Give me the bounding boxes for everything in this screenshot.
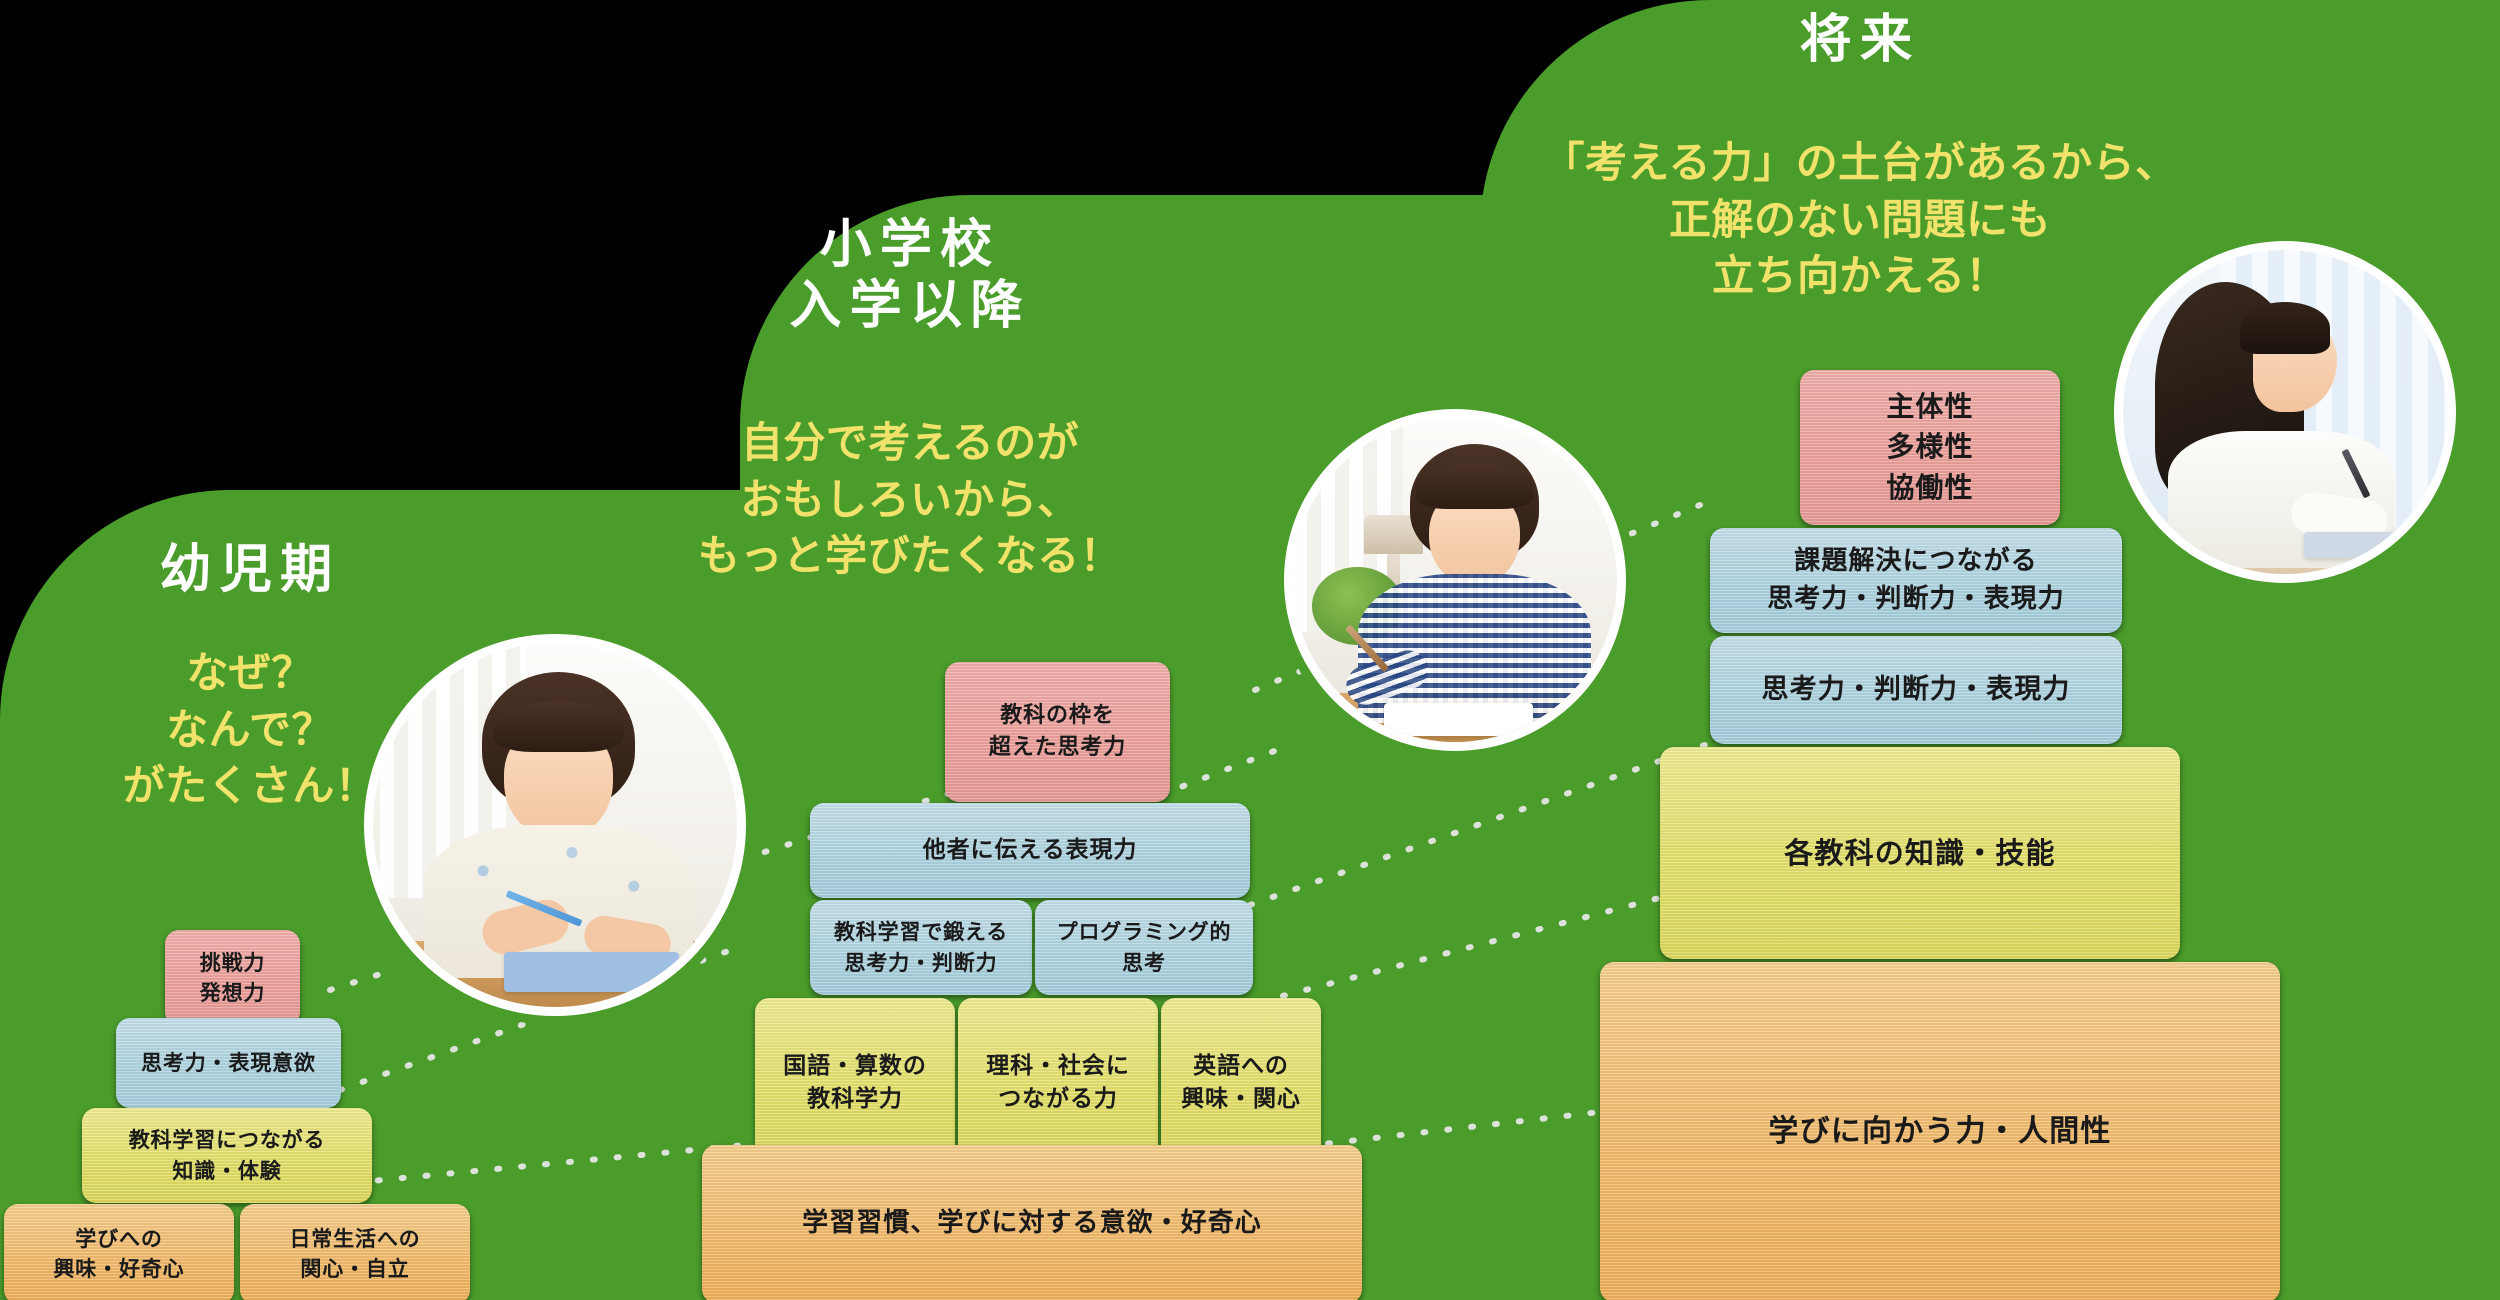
tile-elem-study-habit[interactable]: 学習習慣、学びに対する意欲・好奇心 [702, 1145, 1362, 1300]
stage-subtitle-elementary: 自分で考えるのが おもしろいから、 もっと学びたくなる！ [660, 415, 1160, 585]
bubble-ring [1284, 409, 1626, 751]
photo-bubble-early-childhood [355, 625, 755, 1025]
stage-subtitle-future: 「考える力」の土台があるから、 正解のない問題にも 立ち向かえる！ [1520, 135, 2200, 305]
tile-elem-english[interactable]: 英語への 興味・関心 [1161, 998, 1321, 1168]
tile-future-thinking[interactable]: 思考力・判断力・表現力 [1710, 636, 2122, 744]
photo-bubble-elementary [1275, 400, 1635, 760]
tile-early-thinking[interactable]: 思考力・表現意欲 [116, 1018, 341, 1108]
photo-boy-writing [1293, 418, 1617, 742]
bubble-ring [2114, 241, 2456, 583]
tile-early-knowledge[interactable]: 教科学習につながる 知識・体験 [82, 1108, 372, 1203]
tile-future-autonomy[interactable]: 主体性 多様性 協働性 [1800, 370, 2060, 525]
tile-elem-programming[interactable]: プログラミング的 思考 [1035, 900, 1253, 995]
tile-future-problem-solving[interactable]: 課題解決につながる 思考力・判断力・表現力 [1710, 528, 2122, 633]
tile-early-daily-life[interactable]: 日常生活への 関心・自立 [240, 1204, 470, 1300]
tile-future-human-nature[interactable]: 学びに向かう力・人間性 [1600, 962, 2280, 1300]
tile-elem-japanese-math[interactable]: 国語・算数の 教科学力 [755, 998, 955, 1168]
tile-early-interest[interactable]: 学びへの 興味・好奇心 [4, 1204, 234, 1300]
photo-girl-studying [2123, 250, 2447, 574]
tile-elem-expression[interactable]: 他者に伝える表現力 [810, 803, 1250, 898]
tile-elem-science-social[interactable]: 理科・社会に つながる力 [958, 998, 1158, 1168]
tile-elem-subject-thinking[interactable]: 教科学習で鍛える 思考力・判断力 [810, 900, 1032, 995]
stage-heading-elementary: 小学校 入学以降 [700, 215, 1120, 338]
photo-girl-drawing [373, 643, 737, 1007]
photo-bubble-future [2105, 232, 2465, 592]
tile-early-challenge[interactable]: 挑戦力 発想力 [165, 930, 300, 1026]
stage-heading-future: 将来 [1650, 10, 2070, 71]
stage-heading-early-childhood: 幼児期 [60, 540, 440, 601]
tile-future-subject-knowledge[interactable]: 各教科の知識・技能 [1660, 747, 2180, 959]
bubble-ring [364, 634, 746, 1016]
infographic-canvas: 幼児期 なぜ？ なんで？ がたくさん！ 小学校 入学以降 自分で考えるのが おも… [0, 0, 2500, 1300]
tile-elem-beyond-subject[interactable]: 教科の枠を 超えた思考力 [945, 662, 1170, 802]
